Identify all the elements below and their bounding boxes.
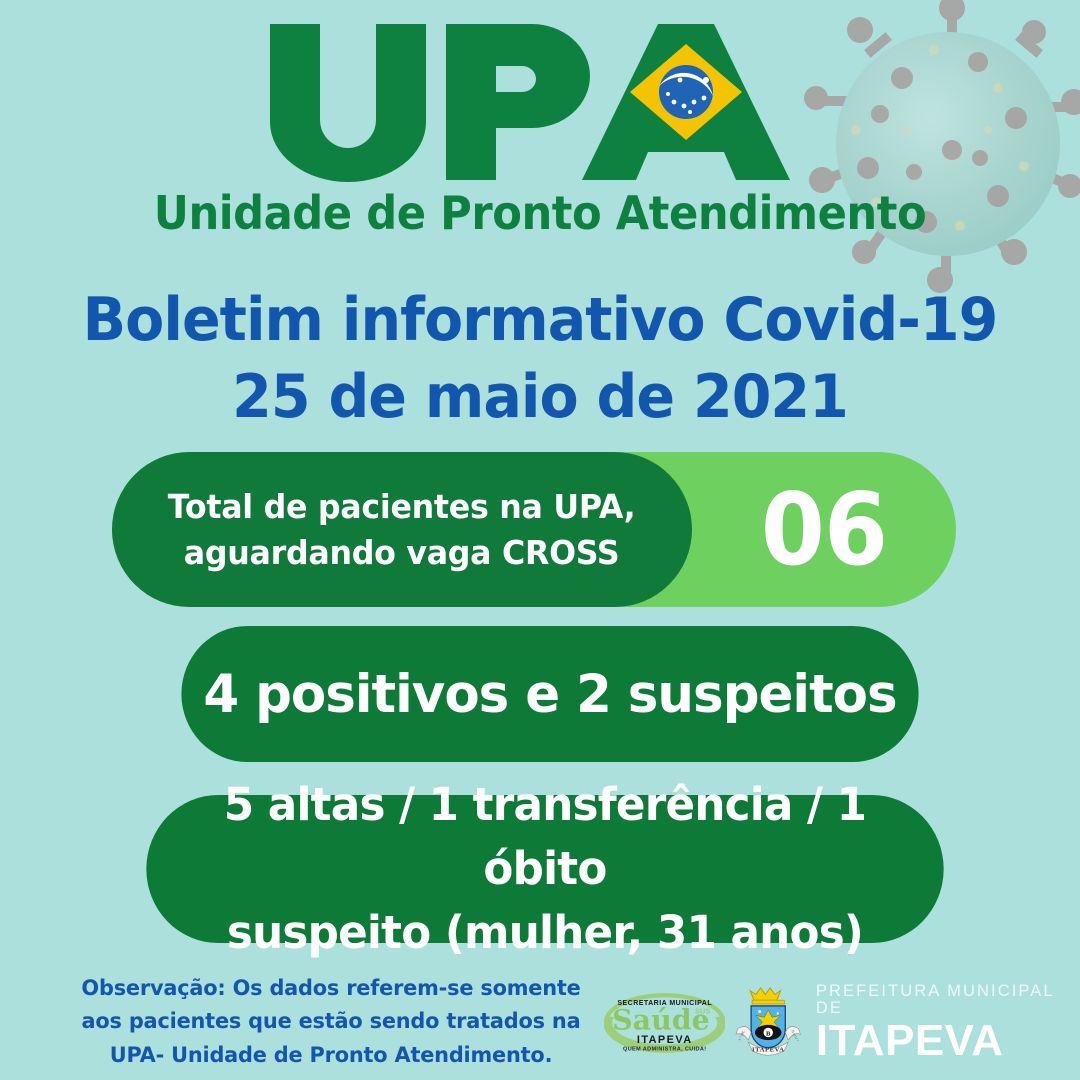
secretaria-saude-logo: SECRETARIA MUNICIPAL Saúde SUS ITAPEVA Q… (604, 986, 725, 1060)
headline-line-1: Boletim informativo Covid-19 (83, 285, 998, 355)
prefeitura-small-text: PREFEITURA MUNICIPAL DE (816, 983, 1074, 1016)
footer-logos: SECRETARIA MUNICIPAL Saúde SUS ITAPEVA Q… (604, 980, 1074, 1066)
footnote-line-3: UPA- Unidade de Pronto Atendimento. (56, 1039, 605, 1072)
card-total-patients-label: Total de pacientes na UPA, aguardando va… (136, 484, 669, 575)
saude-city-text: ITAPEVA (637, 1034, 693, 1046)
brasao-ribbon-text: ITAPEVA (752, 1046, 784, 1053)
upa-subtitle: Unidade de Pronto Atendimento (32, 186, 1047, 240)
prefeitura-big-text: ITAPEVA (816, 1019, 1074, 1063)
card-outcomes-line-1: 5 altas / 1 transferência / 1 óbito (224, 778, 866, 895)
card-outcomes-line-2: suspeito (mulher, 31 anos) (227, 906, 863, 959)
card-cases: 4 positivos e 2 suspeitos (181, 626, 918, 762)
saude-sus-text: SUS (695, 1007, 711, 1016)
page-title: Boletim informativo Covid-19 25 de maio … (27, 282, 1053, 436)
upa-logo (0, 18, 1080, 190)
footnote-line-1: Observação: Os dados referem-se somente (56, 972, 605, 1005)
card-outcomes-text: 5 altas / 1 transferência / 1 óbito susp… (172, 773, 919, 965)
itapeva-coat-of-arms: B ITAPEVA 1 ° DE N O V ° (735, 983, 801, 1063)
footnote: Observação: Os dados referem-se somente … (56, 972, 605, 1072)
saude-slogan: QUEM ADMINISTRA, CUIDA! (623, 1047, 706, 1053)
prefeitura-wordmark: PREFEITURA MUNICIPAL DE ITAPEVA (816, 983, 1074, 1063)
footnote-line-2: aos pacientes que estão sendo tratados n… (56, 1005, 605, 1038)
svg-text:B: B (766, 1030, 771, 1037)
card-cases-text: 4 positivos e 2 suspeitos (203, 664, 896, 725)
card-outcomes: 5 altas / 1 transferência / 1 óbito susp… (146, 795, 943, 943)
card-total-label-line-1: Total de pacientes na UPA, (168, 487, 636, 526)
card-total-patients: Total de pacientes na UPA, aguardando va… (112, 452, 956, 607)
covid-bulletin-poster: Unidade de Pronto Atendimento Boletim in… (0, 0, 1080, 1080)
headline-line-2: 25 de maio de 2021 (27, 359, 1053, 436)
card-total-label-line-2: aguardando vaga CROSS (184, 533, 620, 572)
card-total-patients-pill: Total de pacientes na UPA, aguardando va… (112, 452, 692, 607)
card-total-patients-value: 06 (703, 452, 946, 607)
